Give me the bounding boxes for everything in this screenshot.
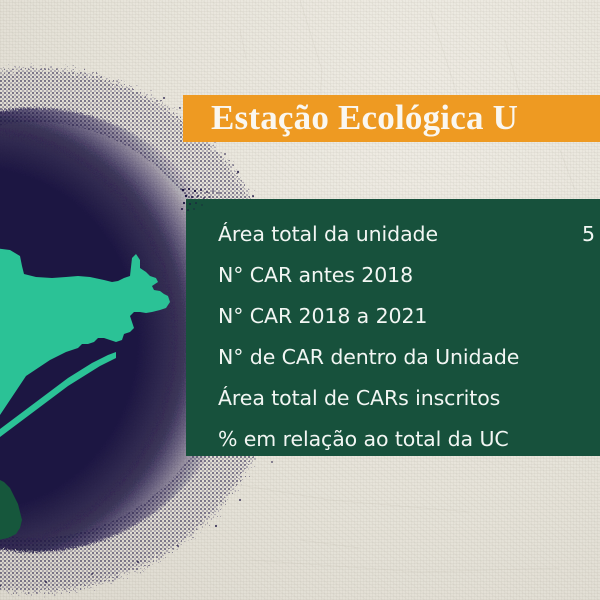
- row-label: % em relação ao total da UC: [218, 427, 509, 451]
- data-row: N° CAR antes 2018: [186, 254, 600, 295]
- teal-protected-area-map: [0, 0, 200, 600]
- data-row: % em relação ao total da UC: [186, 418, 600, 459]
- row-value: 5: [582, 222, 595, 246]
- dark-green-inset-blob: [0, 476, 22, 540]
- data-row: N° CAR 2018 a 2021: [186, 295, 600, 336]
- data-row: Área total da unidade 5: [186, 213, 600, 254]
- page-title: Estação Ecológica U: [211, 98, 518, 138]
- data-row: Área total de CARs inscritos: [186, 377, 600, 418]
- map-landmass-main: [0, 248, 170, 452]
- row-label: Área total da unidade: [218, 222, 438, 246]
- data-panel: Área total da unidade 5 N° CAR antes 201…: [186, 199, 600, 456]
- data-rows: Área total da unidade 5 N° CAR antes 201…: [186, 199, 600, 456]
- data-row: N° de CAR dentro da Unidade: [186, 336, 600, 377]
- infographic-canvas: Área total da unidade 5 N° CAR antes 201…: [0, 0, 600, 600]
- row-label: Área total de CARs inscritos: [218, 386, 500, 410]
- row-label: N° de CAR dentro da Unidade: [218, 345, 519, 369]
- row-label: N° CAR antes 2018: [218, 263, 413, 287]
- row-label: N° CAR 2018 a 2021: [218, 304, 427, 328]
- title-banner: Estação Ecológica U: [183, 95, 600, 142]
